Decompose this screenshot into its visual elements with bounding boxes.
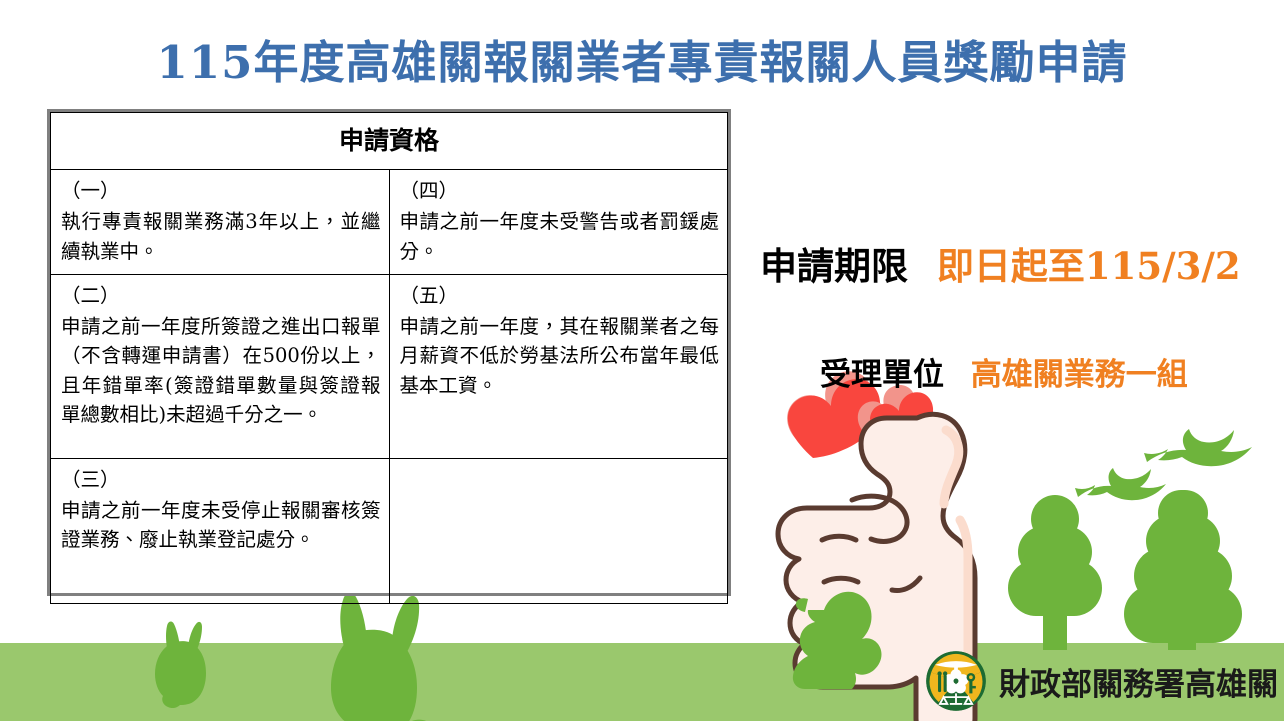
table-cell-empty (389, 458, 728, 603)
table-cell-1: （一） 執行專責報關業務滿3年以上，並繼續執業中。 (51, 170, 390, 275)
cell-body: 申請之前一年度未受警告或者罰鍰處分。 (400, 207, 720, 266)
deadline-value: 即日起至115/3/2 (937, 244, 1241, 288)
cell-number: （一） (61, 176, 381, 205)
unit-label: 受理單位 (820, 357, 944, 393)
table-header-row: 申請資格 (51, 113, 728, 170)
receiving-unit: 受理單位 高雄關業務一組 (820, 349, 1260, 394)
qualification-table: 申請資格 （一） 執行專責報關業務滿3年以上，並繼續執業中。 （四） 申請之前一… (50, 112, 728, 604)
cell-number: （五） (400, 281, 720, 310)
table-row: （二） 申請之前一年度所簽證之進出口報單（不含轉運申請書）在500份以上，且年錯… (51, 274, 728, 458)
cell-body: 執行專責報關業務滿3年以上，並繼續執業中。 (61, 207, 381, 266)
table-cell-3: （三） 申請之前一年度未受停止報關審核簽證業務、廢止執業登記處分。 (51, 458, 390, 603)
page-title: 115年度高雄關報關業者專責報關人員獎勵申請 (0, 26, 1284, 91)
unit-value: 高雄關業務一組 (971, 357, 1188, 393)
cell-body: 申請之前一年度，其在報關業者之每月薪資不低於勞基法所公布當年最低基本工資。 (400, 312, 720, 400)
cell-body: 申請之前一年度未受停止報關審核簽證業務、廢止執業登記處分。 (61, 496, 381, 555)
table-row: （三） 申請之前一年度未受停止報關審核簽證業務、廢止執業登記處分。 (51, 458, 728, 603)
cell-number: （四） (400, 176, 720, 205)
qualification-table-frame: 申請資格 （一） 執行專責報關業務滿3年以上，並繼續執業中。 （四） 申請之前一… (47, 109, 731, 596)
deadline-label: 申請期限 (760, 244, 908, 288)
poster-canvas: 115年度高雄關報關業者專責報關人員獎勵申請 申請資格 （一） 執行專責報關業務… (0, 0, 1284, 721)
cell-number: （三） (61, 465, 381, 494)
cell-body: 申請之前一年度所簽證之進出口報單（不含轉運申請書）在500份以上，且年錯單率(簽… (61, 312, 381, 429)
table-cell-4: （四） 申請之前一年度未受警告或者罰鍰處分。 (389, 170, 728, 275)
customs-emblem-icon (925, 650, 987, 712)
table-cell-2: （二） 申請之前一年度所簽證之進出口報單（不含轉運申請書）在500份以上，且年錯… (51, 274, 390, 458)
table-cell-5: （五） 申請之前一年度，其在報關業者之每月薪資不低於勞基法所公布當年最低基本工資… (389, 274, 728, 458)
trees-icon (1008, 490, 1242, 650)
birds-icon (1075, 429, 1252, 500)
cell-number: （二） (61, 281, 381, 310)
table-row: （一） 執行專責報關業務滿3年以上，並繼續執業中。 （四） 申請之前一年度未受警… (51, 170, 728, 275)
organisation-name: 財政部關務署高雄關 (999, 659, 1278, 704)
table-header-cell: 申請資格 (51, 113, 728, 170)
footer-organisation: 財政部關務署高雄關 (925, 650, 1278, 712)
application-deadline: 申請期限 即日起至115/3/2 (760, 236, 1280, 290)
